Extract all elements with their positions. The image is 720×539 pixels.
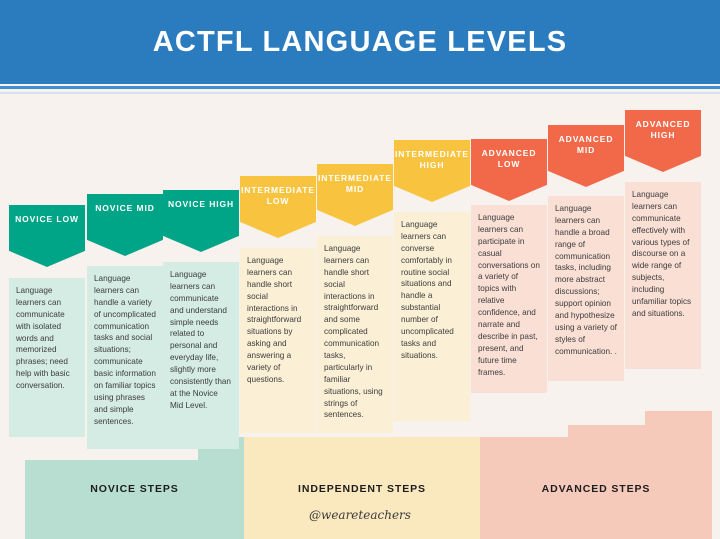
level-column-advanced-low[interactable]: Language learners can participate in cas… bbox=[471, 0, 547, 539]
level-description-advanced-mid: Language learners can handle a broad ran… bbox=[548, 196, 624, 381]
level-banner-novice-mid[interactable]: NOVICE MID bbox=[87, 194, 163, 256]
watermark: @weareteachers bbox=[250, 508, 470, 522]
level-banner-novice-high[interactable]: NOVICE HIGH bbox=[163, 190, 239, 252]
group-label-advanced-steps: ADVANCED STEPS bbox=[480, 483, 712, 495]
level-column-novice-mid[interactable]: Language learners can handle a variety o… bbox=[87, 0, 163, 539]
level-description-novice-low: Language learners can communicate with i… bbox=[9, 278, 85, 437]
level-banner-advanced-low[interactable]: ADVANCED LOW bbox=[471, 139, 547, 201]
level-column-intermediate-high[interactable]: Language learners can converse comfortab… bbox=[394, 0, 470, 539]
infographic-canvas: ACTFL LANGUAGE LEVELS Language learners … bbox=[0, 0, 720, 539]
level-description-intermediate-low: Language learners can handle short socia… bbox=[240, 248, 316, 433]
level-description-novice-mid: Language learners can handle a variety o… bbox=[87, 266, 163, 449]
level-banner-intermediate-mid[interactable]: INTERMEDIATE MID bbox=[317, 164, 393, 226]
group-label-independent-steps: INDEPENDENT STEPS bbox=[244, 483, 480, 495]
level-description-advanced-high: Language learners can communicate effect… bbox=[625, 182, 701, 369]
level-column-advanced-mid[interactable]: Language learners can handle a broad ran… bbox=[548, 0, 624, 539]
level-banner-intermediate-high[interactable]: INTERMEDIATE HIGH bbox=[394, 140, 470, 202]
level-description-advanced-low: Language learners can participate in cas… bbox=[471, 205, 547, 393]
level-description-novice-high: Language learners can communicate and un… bbox=[163, 262, 239, 449]
level-banner-advanced-high[interactable]: ADVANCED HIGH bbox=[625, 110, 701, 172]
level-column-novice-high[interactable]: Language learners can communicate and un… bbox=[163, 0, 239, 539]
level-column-novice-low[interactable]: Language learners can communicate with i… bbox=[9, 0, 85, 539]
level-description-intermediate-high: Language learners can converse comfortab… bbox=[394, 212, 470, 421]
level-column-intermediate-mid[interactable]: Language learners can handle short socia… bbox=[317, 0, 393, 539]
group-label-novice-steps: NOVICE STEPS bbox=[25, 483, 244, 495]
level-column-intermediate-low[interactable]: Language learners can handle short socia… bbox=[240, 0, 316, 539]
level-column-advanced-high[interactable]: Language learners can communicate effect… bbox=[625, 0, 701, 539]
level-banner-intermediate-low[interactable]: INTERMEDIATE LOW bbox=[240, 176, 316, 238]
level-banner-novice-low[interactable]: NOVICE LOW bbox=[9, 205, 85, 267]
level-banner-advanced-mid[interactable]: ADVANCED MID bbox=[548, 125, 624, 187]
level-description-intermediate-mid: Language learners can handle short socia… bbox=[317, 236, 393, 433]
